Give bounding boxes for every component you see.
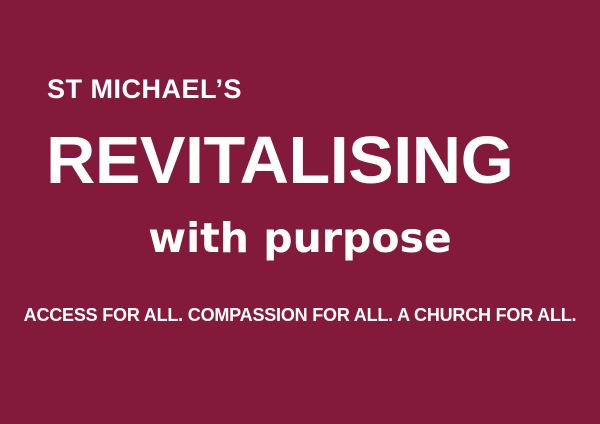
organisation-name: ST MICHAEL’S [47, 76, 242, 103]
page-title: REVITALISING [46, 127, 566, 194]
poster-content: ST MICHAEL’S REVITALISING with purpose A… [0, 0, 600, 424]
tagline: ACCESS FOR ALL. COMPASSION FOR ALL. A CH… [0, 306, 600, 324]
page-subtitle: with purpose [0, 218, 600, 259]
poster-canvas: ST MICHAEL’S REVITALISING with purpose A… [0, 0, 600, 424]
